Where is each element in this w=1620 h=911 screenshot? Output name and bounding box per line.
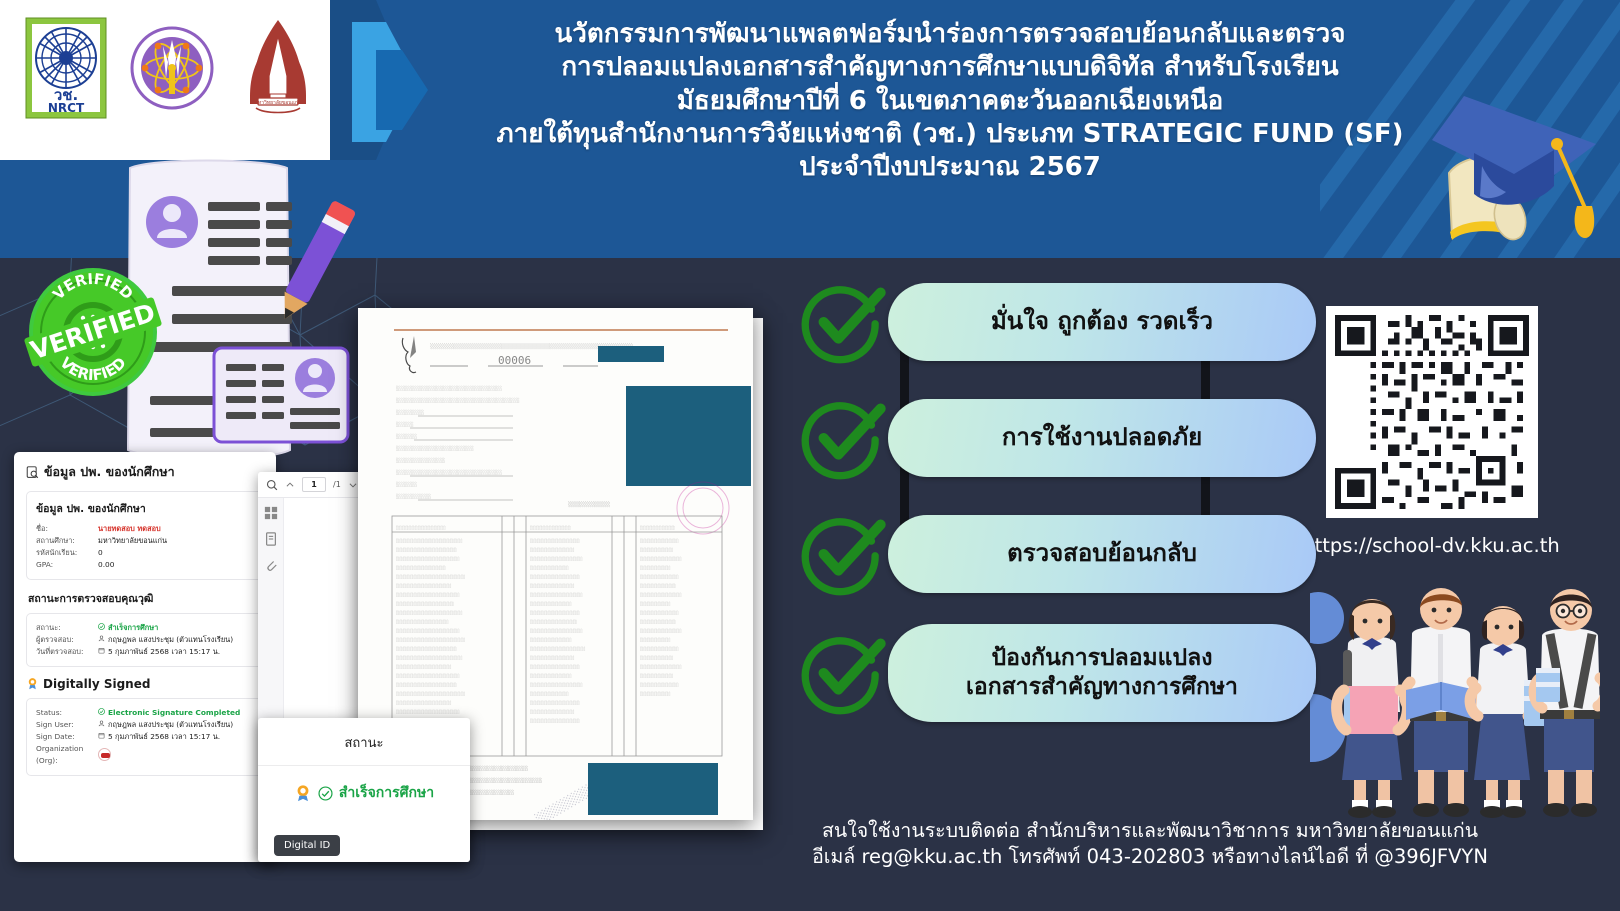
svg-text:░░░░░░░░░░░░░░░░░░░░░░░░: ░░░░░░░░░░░░░░░░░░░░░░░░ <box>396 610 463 615</box>
title-line-2: การปลอมแปลงเอกสารสำคัญทางการศึกษาแบบดิจิ… <box>340 51 1560 84</box>
status-card-heading: สถานะ <box>258 718 470 766</box>
svg-text:░░░░░░░░░░░░░░░░: ░░░░░░░░░░░░░░░░ <box>530 583 574 588</box>
row-key: วันที่ตรวจสอบ: <box>36 646 98 658</box>
digitally-signed-text: Digitally Signed <box>43 677 150 691</box>
svg-text:░░░░░░░░░░░░░░: ░░░░░░░░░░░░░░ <box>640 682 679 687</box>
feature-pill-4-label-line2: เอกสารสำคัญทางการศึกษา <box>966 674 1238 700</box>
check-circle-icon <box>796 627 888 719</box>
row-key: Status: <box>36 707 98 719</box>
feature-pill-2[interactable]: การใช้งานปลอดภัย <box>888 399 1316 477</box>
svg-text:░░░░░░░░░░░░░░░░░░░: ░░░░░░░░░░░░░░░░░░░ <box>396 619 449 624</box>
svg-text:░░░░░░░░░░░: ░░░░░░░░░░░ <box>640 637 671 642</box>
svg-text:░░░░░░░░░░░: ░░░░░░░░░░░ <box>640 601 671 606</box>
award-medal-icon <box>294 784 312 802</box>
verify-row-status: สถานะ: สำเร็จการศึกษา <box>36 622 254 634</box>
svg-text:░░░░░░░░░░░░░░░░░░░░░░: ░░░░░░░░░░░░░░░░░░░░░░ <box>396 547 457 552</box>
svg-text:░░░░░░░░░░░░░░░░░░░░░░: ░░░░░░░░░░░░░░░░░░░░░░ <box>396 682 457 687</box>
bookmark-icon[interactable] <box>264 532 278 546</box>
svg-text:░░░░░░░░░░░░░░░░░░░░░░░░░░░░░░: ░░░░░░░░░░░░░░░░░░░░░░░░░░░░░░░░░░░ <box>396 397 520 404</box>
contact-line-1: สนใจใช้งานระบบติดต่อ สำนักบริหารและพัฒนา… <box>700 818 1600 844</box>
row-key: สถานะ: <box>36 622 98 634</box>
feature-pill-4-label-line1: ป้องกันการปลอมแปลง <box>992 645 1213 671</box>
svg-text:░░░░░░░░░░░░░░░░░░░░: ░░░░░░░░░░░░░░░░░░░░ <box>396 583 452 588</box>
chevron-down-icon[interactable] <box>348 480 358 490</box>
check-circle-icon <box>796 392 888 484</box>
svg-text:░░░░░░░░░░░░░░░░░░░░░░░: ░░░░░░░░░░░░░░░░░░░░░░░ <box>396 673 460 678</box>
page-title: นวัตกรรมการพัฒนาแพลตฟอร์มนำร่องการตรวจสอ… <box>340 18 1560 184</box>
calendar-icon <box>98 646 105 658</box>
mhesi-logo <box>130 16 214 120</box>
person-icon <box>98 634 105 646</box>
title-line-3: มัธยมศึกษาปีที่ 6 ในเขตภาคตะวันออกเฉียงเ… <box>340 85 1560 118</box>
feature-pill-3[interactable]: ตรวจสอบย้อนกลับ <box>888 515 1316 593</box>
svg-text:░░░░░░░░░░░░░░░░░░░: ░░░░░░░░░░░░░░░░░░░ <box>530 628 583 633</box>
svg-text:░░░░░░: ░░░░░░ <box>396 433 417 440</box>
svg-text:░░░░░░░░░░░░░░░░░░: ░░░░░░░░░░░░░░░░░░ <box>530 610 580 615</box>
panel-title: ข้อมูล ปพ. ของนักศึกษา <box>26 462 264 482</box>
svg-text:NRCT: NRCT <box>48 101 85 115</box>
verify-section-heading: สถานะการตรวจสอบคุณวุฒิ <box>28 590 264 607</box>
feature-pill-4[interactable]: ป้องกันการปลอมแปลง เอกสารสำคัญทางการศึกษ… <box>888 624 1316 722</box>
svg-text:░░░░░░░░░░░░░░░░░░░░░░░░: ░░░░░░░░░░░░░░░░░░░░░░░░ <box>396 655 463 660</box>
svg-text:░░░░░░░░░░░░░░: ░░░░░░░░░░░░░░ <box>640 646 679 651</box>
pdf-page-input[interactable]: 1 <box>302 477 326 492</box>
title-line-1: นวัตกรรมการพัฒนาแพลตฟอร์มนำร่องการตรวจสอ… <box>340 18 1560 51</box>
poster-root: วช. NRCT <box>0 0 1620 911</box>
svg-text:░░░░░░░░░░░░░░░: ░░░░░░░░░░░░░░░ <box>640 664 682 669</box>
row-value: มหาวิทยาลัยขอนแก่น <box>98 535 167 547</box>
digitally-signed-heading: Digitally Signed <box>26 677 264 691</box>
svg-text:░░░░░░░░░░░░░░░░░░░░░░░░░: ░░░░░░░░░░░░░░░░░░░░░░░░░ <box>396 574 465 579</box>
panel-title-text: ข้อมูล ปพ. ของนักศึกษา <box>44 462 175 482</box>
svg-text:░░░░░░░░░░░░: ░░░░░░░░░░░░ <box>640 655 673 660</box>
verified-badge-icon: VERIFIED VERIFIED VERIFIED <box>18 262 168 402</box>
svg-text:░░░░░░░░░░░░░░░░░░: ░░░░░░░░░░░░░░░░░░ <box>530 700 580 705</box>
svg-text:░░░░░░░░░░░░░░: ░░░░░░░░░░░░░░ <box>530 565 569 570</box>
row-key: Sign Date: <box>36 731 98 743</box>
svg-text:░░░░░░░░░░░░░░: ░░░░░░░░░░░░░░ <box>640 610 679 615</box>
row-value: 0.00 <box>98 559 114 571</box>
svg-text:░░░░░░░░░░░░: ░░░░░░░░░░░░ <box>640 547 673 552</box>
svg-text:░░░░░░░░░░░░░░░░: ░░░░░░░░░░░░░░░░ <box>530 547 574 552</box>
svg-text:░░░░░: ░░░░░ <box>396 421 414 428</box>
calendar-icon <box>98 731 105 743</box>
redaction-box-1 <box>598 346 664 362</box>
status-card: สถานะ สำเร็จการศึกษา Digital ID <box>258 718 470 862</box>
svg-text:░░░░░░░░░░░░░░: ░░░░░░░░░░░░░░ <box>640 574 679 579</box>
svg-text:░░░░░░░░░░░: ░░░░░░░░░░░ <box>568 501 610 508</box>
svg-text:░░░░░░░░░░░░░░░░░░░░: ░░░░░░░░░░░░░░░░░░░░ <box>530 646 586 651</box>
signed-row-date: Sign Date: 5 กุมภาพันธ์ 2568 เวลา 15:17 … <box>36 731 254 743</box>
svg-text:░░░░░░░░░░░░░░: ░░░░░░░░░░░░░░ <box>396 457 445 464</box>
chevron-up-icon[interactable] <box>285 480 295 490</box>
verify-row-checker: ผู้ตรวจสอบ: กฤษฎพล แสงประชุม (ตัวแทนโรงเ… <box>36 634 254 646</box>
svg-text:░░░░░░░░░░░░░░░░░: ░░░░░░░░░░░░░░░░░ <box>396 525 446 530</box>
svg-text:░░░░░░░░░░░░░░░░░░░░░░░: ░░░░░░░░░░░░░░░░░░░░░░░ <box>396 709 460 714</box>
svg-text:░░░░░░░░░░░░░░░░░░: ░░░░░░░░░░░░░░░░░░ <box>530 718 580 723</box>
students-group-icon <box>1310 578 1600 826</box>
title-line-4: ภายใต้ทุนสำนักงานการวิจัยแห่งชาติ (วช.) … <box>340 118 1560 151</box>
check-circle-icon <box>318 786 333 801</box>
check-circle-icon <box>796 508 888 600</box>
signed-row-org: Organization (Org): <box>36 743 254 767</box>
svg-text:░░░░░░░░░░░░░░░░░░: ░░░░░░░░░░░░░░░░░░ <box>396 565 446 570</box>
contact-line-2: อีเมล์ reg@kku.ac.th โทรศัพท์ 043-202803… <box>700 844 1600 870</box>
svg-text:░░░░░░░░░░░░░░░░░░: ░░░░░░░░░░░░░░░░░░ <box>530 574 580 579</box>
contact-info: สนใจใช้งานระบบติดต่อ สำนักบริหารและพัฒนา… <box>700 818 1600 870</box>
digital-id-button[interactable]: Digital ID <box>274 835 340 856</box>
svg-text:░░░░░░░░░░░░░░░░░░░░░░░░░: ░░░░░░░░░░░░░░░░░░░░░░░░░ <box>396 637 465 642</box>
row-key: ชื่อ: <box>36 523 98 535</box>
row-key: Organization (Org): <box>36 743 98 767</box>
redaction-box-3 <box>588 763 718 815</box>
pdf-page-total: /1 <box>333 480 341 489</box>
svg-text:░░░░░░░░░░░░░░: ░░░░░░░░░░░░░░ <box>530 525 571 530</box>
row-value: 0 <box>98 547 103 559</box>
svg-text:░░░░░░░░░░░░░░░: ░░░░░░░░░░░░░░░ <box>530 601 572 606</box>
checklist-item-1: มั่นใจ ถูกต้อง รวดเร็ว <box>796 276 1316 368</box>
attachment-icon[interactable] <box>264 558 278 572</box>
row-key: ผู้ตรวจสอบ: <box>36 634 98 646</box>
svg-text:░░░░░░░░░░░░░░░: ░░░░░░░░░░░░░░░ <box>640 592 682 597</box>
svg-text:░░░░░░░░░░░░░░░░░░: ░░░░░░░░░░░░░░░░░░ <box>530 664 580 669</box>
thumbnails-icon[interactable] <box>264 506 278 520</box>
row-key: GPA: <box>36 559 98 571</box>
svg-text:░░░░░░░░░░░░░░░░░░░░░░░░░: ░░░░░░░░░░░░░░░░░░░░░░░░░ <box>396 691 465 696</box>
row-key: Sign User: <box>36 719 98 731</box>
student-row-student-id: รหัสนักเรียน: 0 <box>36 547 254 559</box>
svg-text:░░░░░░░░░░░░░░: ░░░░░░░░░░░░░░ <box>530 691 569 696</box>
signed-row-status: Status: Electronic Signature Completed <box>36 707 254 719</box>
svg-text:░░░░░░░░░░░░░░░░: ░░░░░░░░░░░░░░░░ <box>530 709 574 714</box>
row-value: 5 กุมภาพันธ์ 2568 เวลา 15:17 น. <box>108 646 220 658</box>
svg-text:░░░░░░░░░░░░░░░░░░░░░░░░░░░░░░: ░░░░░░░░░░░░░░░░░░░░░░░░░░░░░░ <box>396 385 502 392</box>
svg-text:░░░░░░░░░░░░░: ░░░░░░░░░░░░░ <box>640 583 676 588</box>
svg-text:░░░░░░░░░░░░░░░░░░░░░░: ░░░░░░░░░░░░░░░░░░░░░░ <box>396 445 474 452</box>
student-info-panel: ข้อมูล ปพ. ของนักศึกษา ข้อมูล ปพ. ของนัก… <box>14 452 276 862</box>
qr-code-icon[interactable] <box>1326 306 1538 518</box>
svg-text:░░░░░░░░░░░░░░░: ░░░░░░░░░░░░░░░ <box>640 556 682 561</box>
svg-text:░░░░░░░░░░░░░░░░: ░░░░░░░░░░░░░░░░ <box>530 655 574 660</box>
verify-status-section: สถานะ: สำเร็จการศึกษา ผู้ตรวจสอบ: กฤษฎพล… <box>26 613 264 667</box>
checklist-item-3: ตรวจสอบย้อนกลับ <box>796 508 1316 600</box>
svg-text:░░░░░░░░░░: ░░░░░░░░░░ <box>396 493 431 500</box>
svg-text:░░░░░░░░░░░░░░░░░░░░░░░: ░░░░░░░░░░░░░░░░░░░░░░░ <box>396 592 460 597</box>
check-circle-icon <box>98 622 105 634</box>
checklist-item-2: การใช้งานปลอดภัย <box>796 392 1316 484</box>
title-line-5: ประจำปีงบประมาณ 2567 <box>340 151 1560 184</box>
row-key: สถานศึกษา: <box>36 535 98 547</box>
person-icon <box>98 719 105 731</box>
svg-text:มหาวิทยาลัยขอนแก่น: มหาวิทยาลัยขอนแก่น <box>255 99 302 106</box>
row-key: รหัสนักเรียน: <box>36 547 98 559</box>
feature-pill-3-label: ตรวจสอบย้อนกลับ <box>1007 539 1197 569</box>
check-circle-icon <box>98 707 105 719</box>
svg-text:░░░░░░░░░░░░░░░░░░░░: ░░░░░░░░░░░░░░░░░░░░ <box>396 700 452 705</box>
svg-text:░░░░░░░░░░░░░░░░░░░░: ░░░░░░░░░░░░░░░░░░░░ <box>396 664 452 669</box>
document-search-icon <box>26 466 39 479</box>
org-seal-icon <box>98 748 111 761</box>
student-row-name: ชื่อ: นายทดสอบ ทดสอบ <box>36 523 254 535</box>
svg-text:░░░░░░░░░░░░░░░: ░░░░░░░░░░░░░░░ <box>640 628 682 633</box>
checklist-item-4: ป้องกันการปลอมแปลง เอกสารสำคัญทางการศึกษ… <box>796 624 1316 722</box>
svg-text:░░░░░░░░░░░░░: ░░░░░░░░░░░░░ <box>640 619 676 624</box>
svg-text:░░░░░░░░░░░░░░░░░░░░░░░: ░░░░░░░░░░░░░░░░░░░░░░░ <box>396 556 460 561</box>
svg-text:░░░░░░░░░░░░░░: ░░░░░░░░░░░░░░ <box>640 538 679 543</box>
row-value: นายทดสอบ ทดสอบ <box>98 523 161 535</box>
certificate-icon <box>26 677 39 690</box>
feature-checklist: มั่นใจ ถูกต้อง รวดเร็ว การใช้งานปลอดภัย … <box>796 276 1316 746</box>
svg-text:░░░░░░░░░░░░░░░: ░░░░░░░░░░░░░░░ <box>530 637 572 642</box>
kku-logo: มหาวิทยาลัยขอนแก่น <box>236 16 320 120</box>
svg-text:░░░░░░░░░░░░░░░░░░░░░░: ░░░░░░░░░░░░░░░░░░░░░░ <box>396 646 457 651</box>
check-circle-icon <box>796 276 888 368</box>
signed-row-user: Sign User: กฤษฎพล แสงประชุม (ตัวแทนโรงเร… <box>36 719 254 731</box>
svg-text:░░░░░░░░░░░░░░░░░░░: ░░░░░░░░░░░░░░░░░░░ <box>530 556 583 561</box>
feature-pill-1-label: มั่นใจ ถูกต้อง รวดเร็ว <box>991 307 1213 337</box>
verify-row-date: วันที่ตรวจสอบ: 5 กุมภาพันธ์ 2568 เวลา 15… <box>36 646 254 658</box>
svg-text:░░░░░░░░░░░░░░░░░░░░░: ░░░░░░░░░░░░░░░░░░░░░ <box>396 601 454 606</box>
svg-text:░░░░░░░░░░░░░░░░░: ░░░░░░░░░░░░░░░░░ <box>530 619 577 624</box>
svg-text:00006: 00006 <box>498 354 531 367</box>
svg-text:░░░░░░: ░░░░░░ <box>396 481 417 488</box>
row-value: กฤษฎพล แสงประชุม (ตัวแทนโรงเรียน) <box>108 634 233 646</box>
svg-text:░░░░░░░░░░░░░░░░░░░: ░░░░░░░░░░░░░░░░░░░ <box>530 592 583 597</box>
svg-text:░░░░░░░░░░░░░░░░░░░: ░░░░░░░░░░░░░░░░░░░ <box>530 682 583 687</box>
svg-text:░░░░░░░░: ░░░░░░░░ <box>396 409 424 416</box>
student-info-section: ข้อมูล ปพ. ของนักศึกษา ชื่อ: นายทดสอบ ทด… <box>26 491 264 580</box>
redaction-box-2 <box>626 386 751 486</box>
svg-text:░░░░░░░░░░░░░░░░░░░░░░░░░░░░░░: ░░░░░░░░░░░░░░░░░░░░░░░░░░░░░░ <box>396 469 502 476</box>
row-value: 5 กุมภาพันธ์ 2568 เวลา 15:17 น. <box>108 731 220 743</box>
student-row-gpa: GPA: 0.00 <box>36 559 254 571</box>
status-card-status-text: สำเร็จการศึกษา <box>339 782 434 804</box>
svg-text:░░░░░░░░░░░░: ░░░░░░░░░░░░ <box>640 673 673 678</box>
svg-text:░░░░░░░░░░░: ░░░░░░░░░░░ <box>640 565 671 570</box>
svg-text:░░░░░░░░░░░░░░░░░░░░░░░: ░░░░░░░░░░░░░░░░░░░░░░░ <box>396 628 460 633</box>
row-value: Electronic Signature Completed <box>108 707 240 719</box>
feature-pill-2-label: การใช้งานปลอดภัย <box>1002 423 1202 453</box>
svg-text:░░░░░░░░░░░░░░░░░░: ░░░░░░░░░░░░░░░░░░ <box>530 538 580 543</box>
status-card-body: สำเร็จการศึกษา <box>258 766 470 820</box>
search-icon[interactable] <box>266 479 278 491</box>
svg-text:░░░░░░░░░░░░░░░░░░░░░░░░: ░░░░░░░░░░░░░░░░░░░░░░░░ <box>396 538 463 543</box>
student-row-institution: สถานศึกษา: มหาวิทยาลัยขอนแก่น <box>36 535 254 547</box>
logo-group: วช. NRCT <box>24 16 320 120</box>
nrct-logo: วช. NRCT <box>24 16 108 120</box>
student-section-heading: ข้อมูล ปพ. ของนักศึกษา <box>36 500 254 517</box>
feature-pill-1[interactable]: มั่นใจ ถูกต้อง รวดเร็ว <box>888 283 1316 361</box>
svg-text:░░░░░░░░░░░: ░░░░░░░░░░░ <box>640 691 671 696</box>
svg-text:░░░░░░░░░░░░: ░░░░░░░░░░░░ <box>640 525 675 530</box>
row-value: กฤษฎพล แสงประชุม (ตัวแทนโรงเรียน) <box>108 719 233 731</box>
svg-text:░░░░░░░░░░░░░░░: ░░░░░░░░░░░░░░░ <box>530 673 572 678</box>
signed-details-section: Status: Electronic Signature Completed S… <box>26 698 264 776</box>
row-value: สำเร็จการศึกษา <box>108 622 158 634</box>
